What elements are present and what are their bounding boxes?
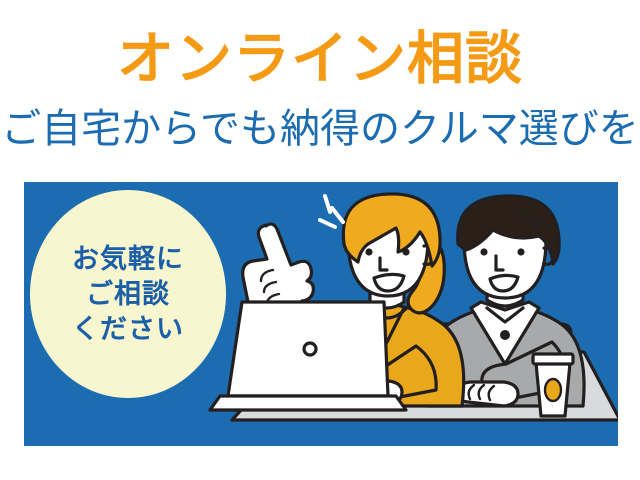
page-title: オンライン相談	[0, 28, 640, 90]
illustration-panel: お気軽に ご相談 ください .ln { fill:none; stroke:#2…	[24, 182, 618, 446]
bubble-line-2: ご相談	[86, 277, 170, 312]
coffee-cup	[533, 354, 573, 416]
online-consultation-banner: オンライン相談 ご自宅からでも納得のクルマ選びを お気軽に ご相談 ください .…	[0, 0, 640, 480]
page-subtitle: ご自宅からでも納得のクルマ選びを	[0, 106, 640, 152]
online-consultation-illustration: .ln { fill:none; stroke:#231F20; stroke-…	[184, 182, 618, 446]
laptop	[210, 302, 406, 410]
bubble-line-1: お気軽に	[72, 242, 184, 277]
bubble-line-3: ください	[72, 312, 184, 347]
sparkle-icon	[320, 196, 343, 227]
